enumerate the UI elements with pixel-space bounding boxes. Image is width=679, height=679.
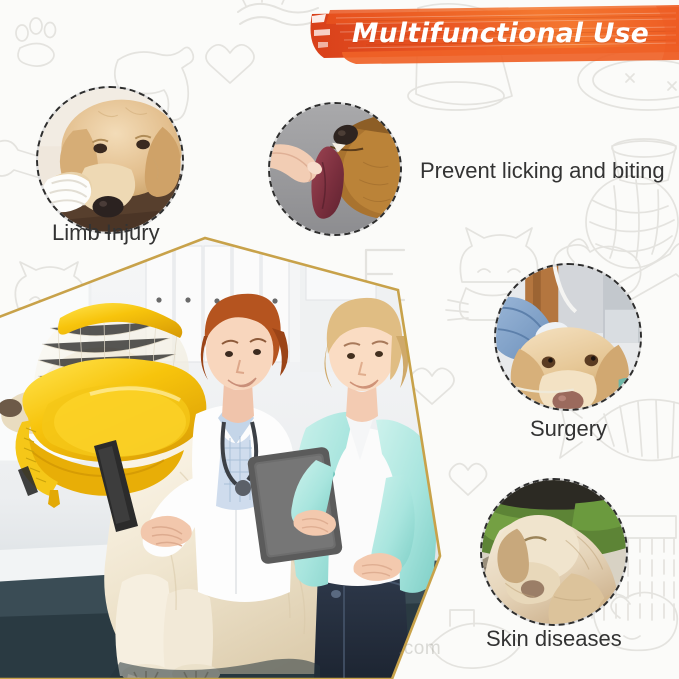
callout-label-prevent-licking-and-biting: Prevent licking and biting [420, 158, 665, 184]
callout-label-limb-injury: Limb Injury [52, 220, 160, 246]
callout-image-skin-diseases[interactable] [480, 478, 628, 626]
product-feature-poster: Multifunctional Use [0, 0, 679, 679]
page-title: Multifunctional Use [296, 2, 679, 64]
header-banner: Multifunctional Use [296, 2, 679, 64]
callout-image-surgery[interactable] [494, 263, 642, 411]
callout-label-surgery: Surgery [530, 416, 607, 442]
callout-image-prevent-licking-and-biting[interactable] [268, 102, 402, 236]
callout-image-limb-injury[interactable] [36, 86, 184, 234]
hero-product-photo[interactable] [0, 222, 460, 679]
callout-label-skin-diseases: Skin diseases [486, 626, 622, 652]
watermark-text: .com [398, 638, 441, 660]
paw-doodle [16, 18, 56, 66]
